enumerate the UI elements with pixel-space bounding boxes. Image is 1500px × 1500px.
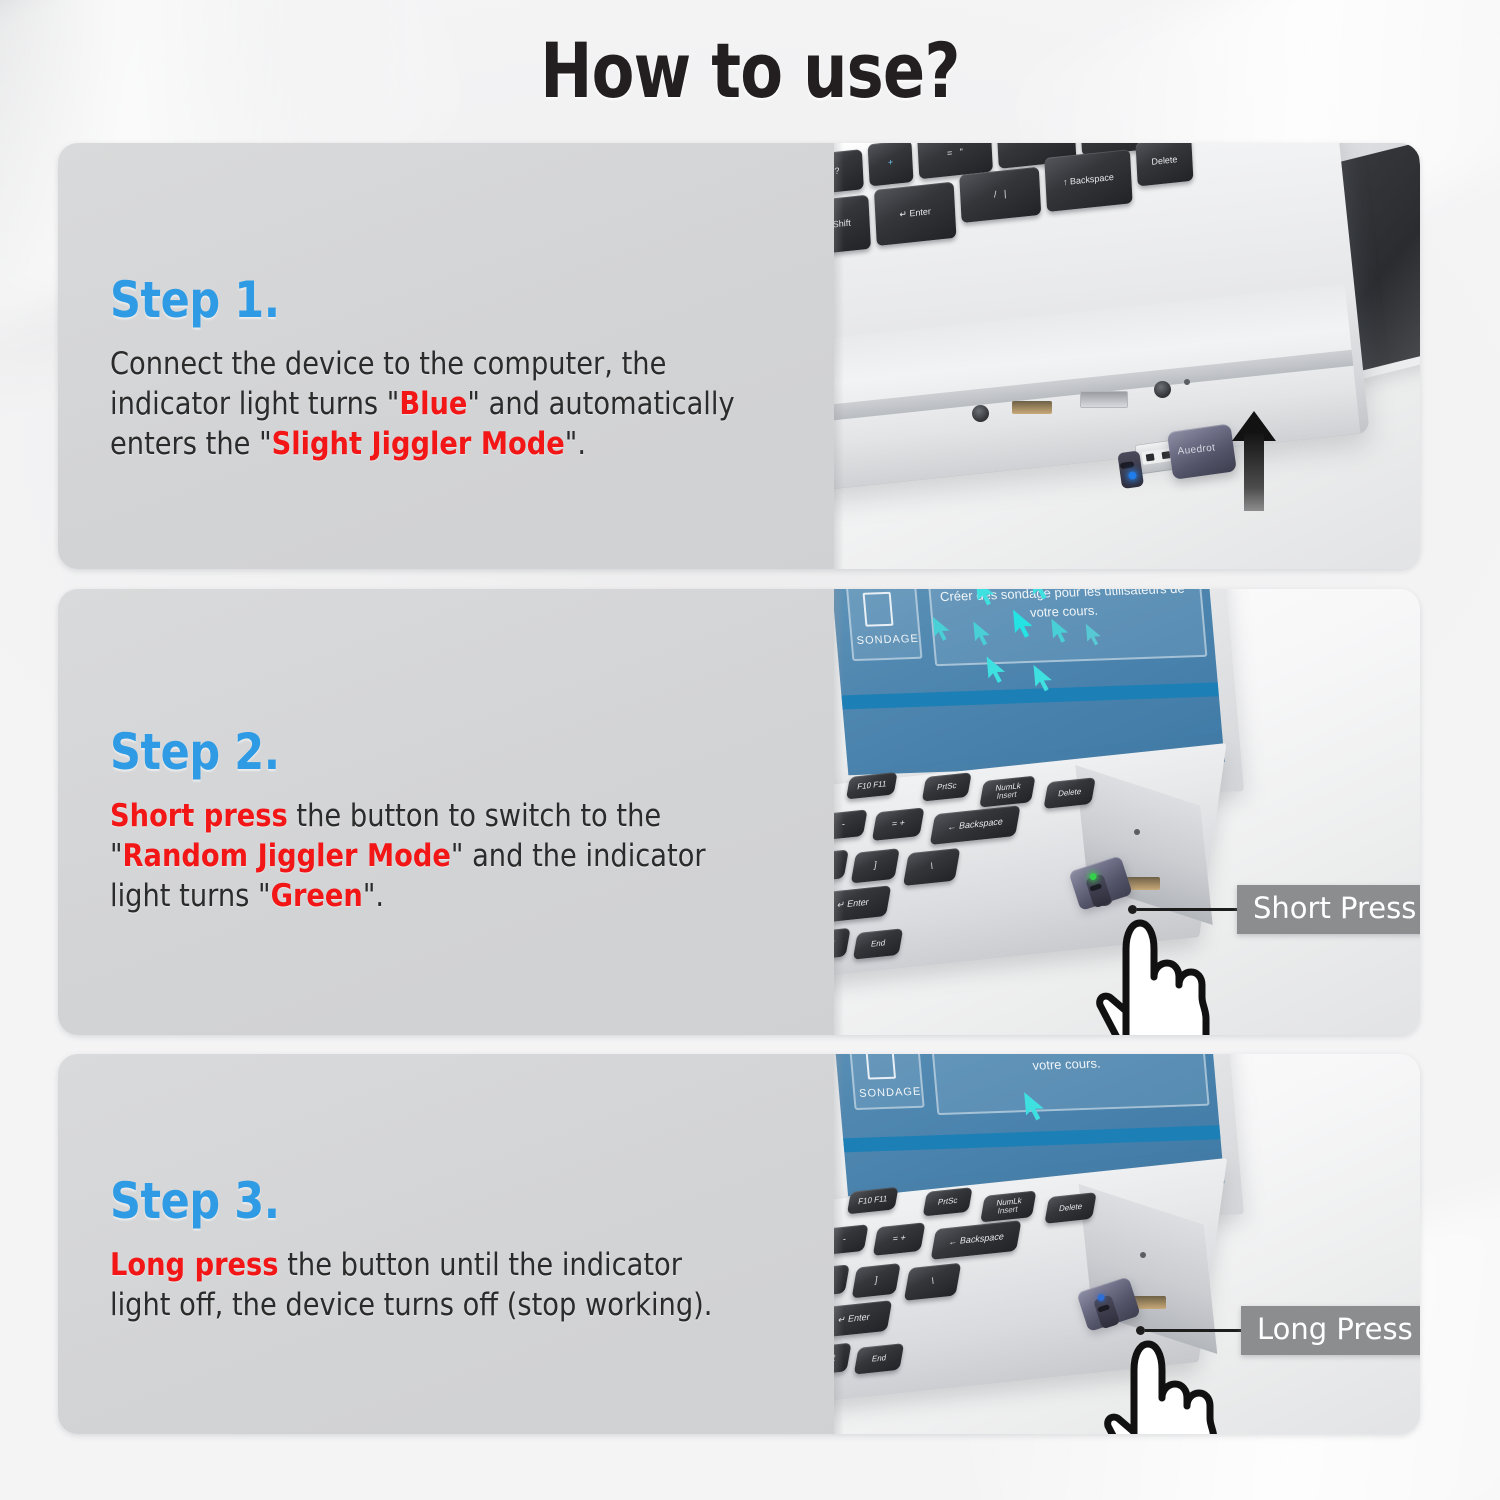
adapter-shell: Auedrot	[1167, 423, 1237, 479]
step-1-photo: ? + = " NumLkInsert ⇧ Shift ↵ Enter / | …	[834, 143, 1420, 569]
key-delete[interactable]: Delete	[1043, 777, 1095, 809]
survey-icon	[863, 592, 894, 627]
usb-port	[1080, 391, 1128, 408]
step-card-1: Step 1. Connect the device to the comput…	[58, 143, 1420, 569]
key-brace[interactable]: ]	[851, 848, 900, 883]
callout-leader-line	[1145, 1329, 1241, 1332]
step-3-heading: Step 3.	[110, 1172, 733, 1230]
callout-leader-line	[1137, 908, 1237, 911]
key-slash[interactable]: / |	[959, 167, 1041, 223]
laptop-screen: SONDAGE Créer des sondage pour les utili…	[834, 589, 1225, 775]
key-prtsc[interactable]: PrtSc	[922, 772, 972, 801]
photo-edge-shadow	[834, 589, 844, 1035]
key-equals[interactable]: = +	[873, 1222, 926, 1256]
audio-jack-port	[972, 405, 989, 422]
photo-edge-shadow	[834, 143, 844, 569]
key-plus[interactable]: +	[868, 143, 914, 186]
step-card-2: Step 2. Short press the button to switch…	[58, 589, 1420, 1035]
key-prtsc[interactable]: PrtSc	[923, 1187, 973, 1216]
key-end[interactable]: End	[854, 1343, 904, 1374]
step-1-text-block: Step 1. Connect the device to the comput…	[58, 143, 834, 569]
page-title: How to use?	[135, 26, 1365, 115]
key-numlk[interactable]: NumLkInsert	[979, 776, 1035, 808]
key-enter[interactable]: ↵ Enter	[874, 182, 956, 246]
key-backspace[interactable]: ← Backspace	[930, 805, 1021, 845]
step-1-body: Connect the device to the computer, the …	[110, 345, 747, 465]
long-press-callout: Long Press	[1136, 1306, 1420, 1355]
infographic-page: How to use? Step 1. Connect the device t…	[0, 0, 1500, 1500]
status-led	[1140, 1252, 1146, 1258]
step-2-photo: SONDAGE Créer des sondage pour les utili…	[834, 589, 1420, 1035]
key-delete[interactable]: Delete	[1135, 143, 1193, 186]
callout-label: Long Press	[1241, 1306, 1420, 1355]
step-3-body: Long press the button until the indicato…	[110, 1246, 747, 1326]
key-numlk[interactable]: NumLkInsert	[980, 1190, 1036, 1222]
step-2-body: Short press the button to switch to the …	[110, 797, 747, 917]
status-led	[1134, 829, 1140, 835]
screen-app-label: SONDAGE	[859, 1086, 922, 1100]
callout-anchor-dot	[1128, 905, 1137, 914]
step-1-heading: Step 1.	[110, 271, 733, 329]
screen-taskbar	[843, 1125, 1221, 1152]
step-3-photo: SONDAGE Créer des sondage pour les utili…	[834, 1054, 1420, 1434]
key-delete[interactable]: Delete	[1044, 1192, 1096, 1224]
step-card-3: Step 3. Long press the button until the …	[58, 1054, 1420, 1434]
adapter-brand-label: Auedrot	[1177, 442, 1216, 457]
survey-icon	[865, 1054, 896, 1080]
key-brace[interactable]: ]	[852, 1263, 901, 1298]
callout-anchor-dot	[1136, 1326, 1145, 1335]
key-backslash[interactable]: \	[904, 1263, 961, 1301]
key-equals[interactable]: = +	[872, 807, 925, 841]
key-backslash[interactable]: \	[903, 848, 960, 886]
key-backspace[interactable]: ← Backspace	[931, 1220, 1022, 1260]
step-3-text-block: Step 3. Long press the button until the …	[58, 1054, 834, 1434]
callout-label: Short Press	[1237, 885, 1420, 934]
screen-taskbar	[841, 682, 1219, 709]
short-press-callout: Short Press	[1128, 885, 1420, 934]
key-end[interactable]: End	[853, 928, 903, 959]
status-led	[1184, 379, 1190, 385]
key-backspace[interactable]: ↑ Backspace	[1044, 149, 1132, 212]
step-2-heading: Step 2.	[110, 723, 733, 781]
key-f10-f11[interactable]: F10 F11	[847, 1187, 899, 1215]
screen-app-label: SONDAGE	[856, 633, 919, 647]
photo-edge-shadow	[834, 1054, 844, 1434]
step-2-text-block: Step 2. Short press the button to switch…	[58, 589, 834, 1035]
audio-jack-port	[1154, 381, 1171, 398]
hdmi-port	[1012, 401, 1052, 414]
key-f10-f11[interactable]: F10 F11	[846, 772, 898, 800]
